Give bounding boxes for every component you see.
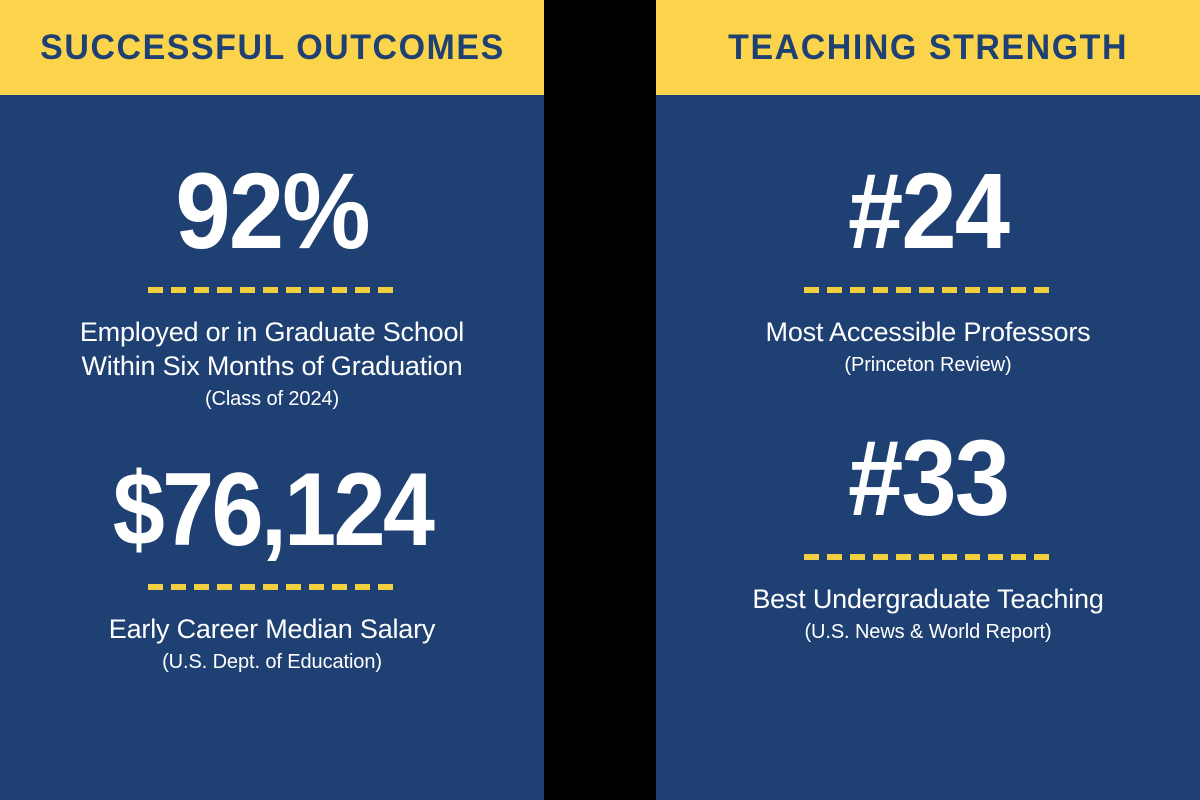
stat-caption-line: Employed or in Graduate School xyxy=(80,315,464,349)
stat-figure-undergraduate-teaching: #33 xyxy=(848,424,1008,532)
panel-teaching-strength: TEACHING STRENGTH #24 Most Accessible Pr… xyxy=(656,0,1200,800)
panel-successful-outcomes: SUCCESSFUL OUTCOMES 92% Employed or in G… xyxy=(0,0,544,800)
stat-block-employment: 92% Employed or in Graduate School Withi… xyxy=(0,157,544,412)
stat-source-undergraduate-teaching: (U.S. News & World Report) xyxy=(804,619,1051,645)
panel-header-title: SUCCESSFUL OUTCOMES xyxy=(40,30,505,65)
stat-caption-accessible-professors: Most Accessible Professors xyxy=(766,315,1091,349)
dashed-divider-icon xyxy=(148,287,396,293)
stat-caption-line: Best Undergraduate Teaching xyxy=(752,582,1103,616)
panel-header-successful-outcomes: SUCCESSFUL OUTCOMES xyxy=(0,0,544,95)
stat-caption-line: Early Career Median Salary xyxy=(109,612,435,646)
dashed-divider-icon xyxy=(148,584,396,590)
stat-caption-salary: Early Career Median Salary xyxy=(109,612,435,646)
center-gutter xyxy=(544,0,656,800)
stat-figure-accessible-professors: #24 xyxy=(848,157,1008,265)
dashed-divider-icon xyxy=(804,554,1052,560)
stat-block-salary: $76,124 Early Career Median Salary (U.S.… xyxy=(0,458,544,675)
infographic-board: SUCCESSFUL OUTCOMES 92% Employed or in G… xyxy=(0,0,1200,800)
stat-source-employment: (Class of 2024) xyxy=(205,386,339,412)
panel-body-successful-outcomes: 92% Employed or in Graduate School Withi… xyxy=(0,95,544,800)
panel-body-teaching-strength: #24 Most Accessible Professors (Princeto… xyxy=(656,95,1200,800)
dashed-divider-icon xyxy=(804,287,1052,293)
stat-caption-undergraduate-teaching: Best Undergraduate Teaching xyxy=(752,582,1103,616)
stat-caption-line: Within Six Months of Graduation xyxy=(80,349,464,383)
stat-figure-salary: $76,124 xyxy=(112,458,431,562)
stat-source-salary: (U.S. Dept. of Education) xyxy=(162,649,382,675)
stat-caption-employment: Employed or in Graduate School Within Si… xyxy=(80,315,464,383)
stat-caption-line: Most Accessible Professors xyxy=(766,315,1091,349)
stat-source-accessible-professors: (Princeton Review) xyxy=(844,352,1011,378)
stat-block-undergraduate-teaching: #33 Best Undergraduate Teaching (U.S. Ne… xyxy=(656,424,1200,645)
stat-block-accessible-professors: #24 Most Accessible Professors (Princeto… xyxy=(656,157,1200,378)
panel-header-title: TEACHING STRENGTH xyxy=(728,30,1128,65)
stat-figure-employment: 92% xyxy=(175,157,368,265)
panel-header-teaching-strength: TEACHING STRENGTH xyxy=(656,0,1200,95)
